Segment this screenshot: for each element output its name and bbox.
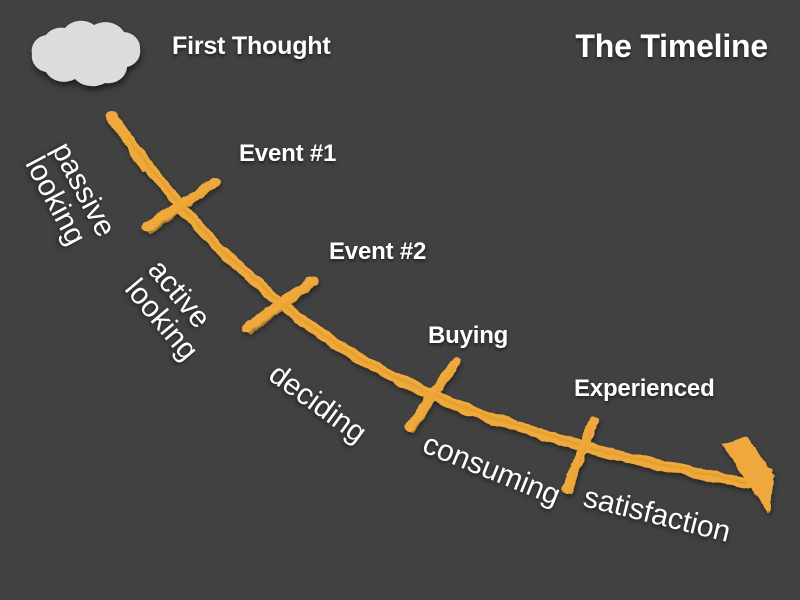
- milestone-event-2: Event #2: [329, 238, 426, 266]
- page-title: The Timeline: [575, 28, 768, 65]
- milestone-event-1: Event #1: [239, 140, 336, 168]
- milestone-experienced: Experienced: [574, 375, 715, 403]
- milestone-buying: Buying: [428, 322, 508, 350]
- milestone-first-thought: First Thought: [172, 32, 330, 61]
- slide-canvas: The Timeline First Thought Event #1 Even…: [0, 0, 800, 600]
